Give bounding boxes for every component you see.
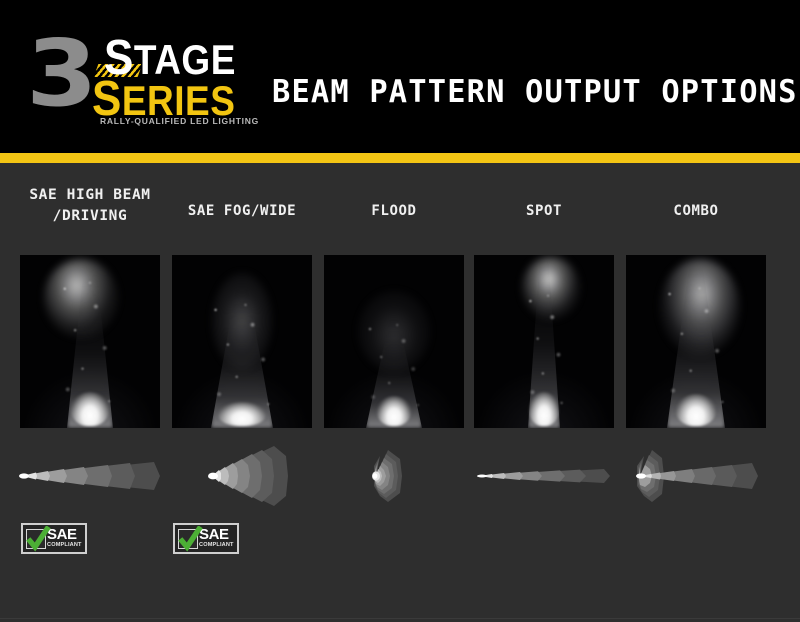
beam-diagram-svg (166, 445, 318, 507)
beam-diagram-svg (620, 445, 772, 507)
badge-text-group: SAE COMPLIANT (199, 528, 234, 549)
sae-compliant-badge: SAE COMPLIANT (21, 523, 87, 554)
beam-column-sae-fog-wide: SAE FOG/WIDE (166, 163, 318, 622)
page-title: BEAM PATTERN OUTPUT OPTIONS (272, 75, 798, 109)
photo-hotspot (377, 396, 411, 426)
column-header-line1: SAE FOG/WIDE (188, 203, 296, 219)
column-header: SPOT (468, 201, 620, 222)
photo-foliage-speckle (198, 295, 286, 419)
beam-pattern-grid: SAE HIGH BEAM /DRIVING (0, 163, 800, 622)
photo-hotspot (529, 392, 559, 426)
photo-hotspot (218, 402, 266, 426)
beam-pattern-infographic: { "header": { "logo": { "numeral": "3", … (0, 0, 800, 622)
check-icon (177, 526, 203, 552)
stage-series-logo: 3 STAGE SERIES RALLY-QUALIFIED LED LIGHT… (26, 26, 236, 126)
sae-compliant-badge: SAE COMPLIANT (173, 523, 239, 554)
column-header-line1: SAE HIGH BEAM (29, 187, 150, 203)
beam-diagram-svg (318, 445, 470, 507)
beam-photo (626, 255, 766, 428)
beam-photo (20, 255, 160, 428)
logo-numeral-3: 3 (26, 28, 93, 120)
beam-column-combo: COMBO (620, 163, 772, 622)
beam-diagram (318, 445, 470, 507)
badge-text-group: SAE COMPLIANT (47, 528, 82, 549)
logo-word-stage: STAGE (104, 37, 236, 81)
beam-diagram (14, 445, 166, 507)
beam-diagram-svg (14, 445, 166, 507)
column-header-line1: FLOOD (371, 203, 416, 219)
accent-stripe (0, 153, 800, 163)
column-header-line1: COMBO (673, 203, 718, 219)
bottom-divider (0, 618, 800, 619)
check-icon (25, 526, 51, 552)
badge-label-sae: SAE (199, 528, 234, 542)
column-header: SAE HIGH BEAM /DRIVING (8, 185, 172, 227)
photo-hotspot (676, 394, 716, 426)
column-header-line2: /DRIVING (8, 206, 172, 227)
beam-diagram (166, 445, 318, 507)
beam-photo (172, 255, 312, 428)
column-header: FLOOD (318, 201, 470, 222)
column-header: SAE FOG/WIDE (166, 201, 318, 222)
logo-tagline: RALLY-QUALIFIED LED LIGHTING (100, 116, 259, 126)
checkbox-icon (26, 529, 46, 549)
beam-column-sae-high-beam-driving: SAE HIGH BEAM /DRIVING (14, 163, 166, 622)
beam-diagram (620, 445, 772, 507)
badge-label-compliant: COMPLIANT (199, 542, 234, 549)
beam-photo (474, 255, 614, 428)
beam-diagram-svg (468, 445, 620, 507)
column-header: COMBO (620, 201, 772, 222)
beam-diagram (468, 445, 620, 507)
checkbox-icon (178, 529, 198, 549)
beam-photo (324, 255, 464, 428)
badge-label-sae: SAE (47, 528, 82, 542)
beam-column-flood: FLOOD (318, 163, 470, 622)
column-header-line1: SPOT (526, 203, 562, 219)
photo-hotspot (71, 392, 109, 426)
badge-label-compliant: COMPLIANT (47, 542, 82, 549)
beam-column-spot: SPOT (468, 163, 620, 622)
header-bar: 3 STAGE SERIES RALLY-QUALIFIED LED LIGHT… (0, 0, 800, 153)
